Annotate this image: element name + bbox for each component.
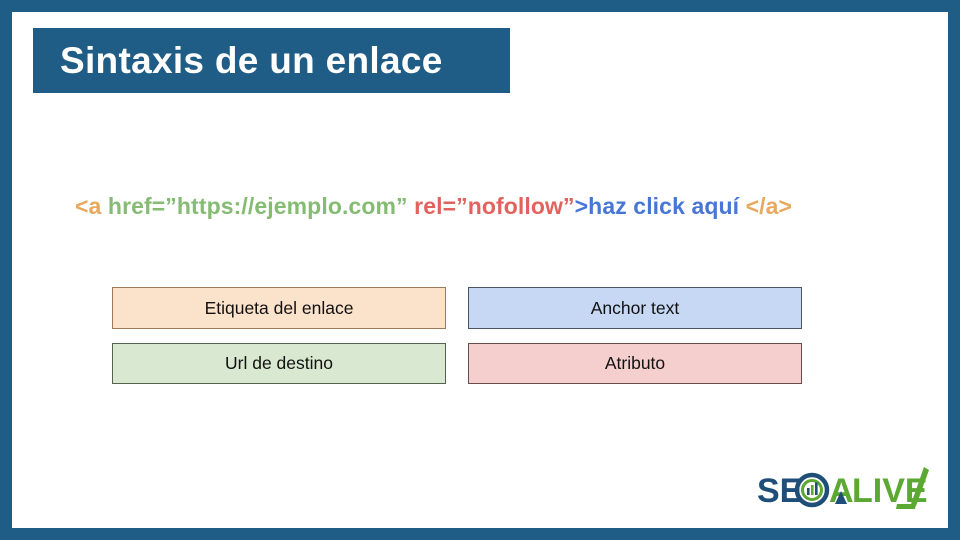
seoalive-logo-icon: SE A LIVE — [755, 464, 930, 518]
code-token-anchor: >haz click aquí — [575, 193, 746, 219]
legend-box-url-de-destino: Url de destino — [112, 343, 446, 384]
page-title: Sintaxis de un enlace — [33, 40, 443, 82]
logo-bar-2 — [811, 485, 814, 495]
slide-title-bar: Sintaxis de un enlace — [33, 28, 510, 93]
legend-box-anchor-text: Anchor text — [468, 287, 802, 329]
logo-bar-3 — [815, 483, 818, 496]
legend-box-label: Url de destino — [225, 353, 333, 374]
legend-box-label: Atributo — [605, 353, 665, 374]
code-token-rel: rel=”nofollow” — [414, 193, 575, 219]
legend-box-etiqueta-del-enlace: Etiqueta del enlace — [112, 287, 446, 329]
logo-text-a: A — [829, 472, 854, 510]
legend-box-label: Etiqueta del enlace — [205, 298, 354, 319]
seoalive-logo: SE A LIVE — [755, 464, 930, 518]
code-token-tag: <a — [75, 193, 108, 219]
slide-canvas: Sintaxis de un enlace <a href=”https://e… — [0, 0, 960, 540]
legend-box-atributo: Atributo — [468, 343, 802, 384]
logo-swoosh-base — [896, 504, 916, 509]
code-token-href: href=”https://ejemplo.com” — [108, 193, 414, 219]
code-token-close-tag: </a> — [746, 193, 792, 219]
legend-box-label: Anchor text — [591, 298, 680, 319]
code-snippet: <a href=”https://ejemplo.com” rel=”nofol… — [75, 193, 885, 220]
logo-bar-1 — [807, 488, 810, 495]
